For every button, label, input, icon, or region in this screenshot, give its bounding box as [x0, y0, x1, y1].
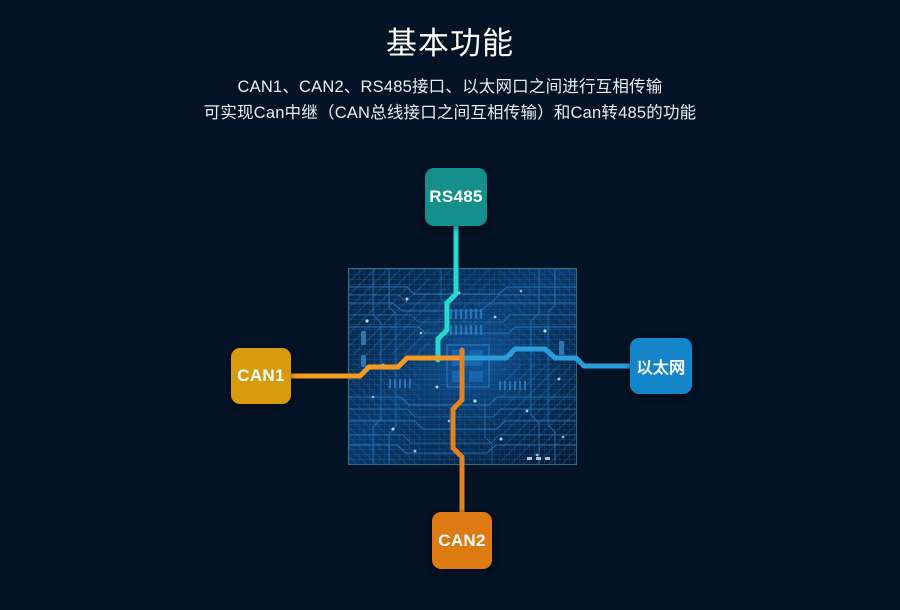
subtitle-line-1: CAN1、CAN2、RS485接口、以太网口之间进行互相传输 [0, 74, 900, 101]
header: 基本功能 CAN1、CAN2、RS485接口、以太网口之间进行互相传输 可实现C… [0, 0, 900, 127]
node-rs485[interactable]: RS485 [425, 168, 487, 226]
node-ethernet-label: 以太网 [637, 354, 686, 378]
wire-ethernet [462, 349, 630, 366]
node-ethernet[interactable]: 以太网 [630, 338, 692, 394]
wire-can2 [453, 350, 462, 514]
subtitle: CAN1、CAN2、RS485接口、以太网口之间进行互相传输 可实现Can中继（… [0, 74, 900, 127]
subtitle-line-2: 可实现Can中继（CAN总线接口之间互相传输）和Can转485的功能 [0, 100, 900, 127]
node-can1[interactable]: CAN1 [231, 348, 291, 404]
page-title: 基本功能 [0, 26, 900, 62]
node-can2-label: CAN2 [438, 531, 486, 551]
wire-rs485 [438, 226, 456, 360]
node-can1-label: CAN1 [237, 366, 285, 386]
node-can2[interactable]: CAN2 [432, 512, 492, 569]
node-rs485-label: RS485 [429, 187, 482, 207]
